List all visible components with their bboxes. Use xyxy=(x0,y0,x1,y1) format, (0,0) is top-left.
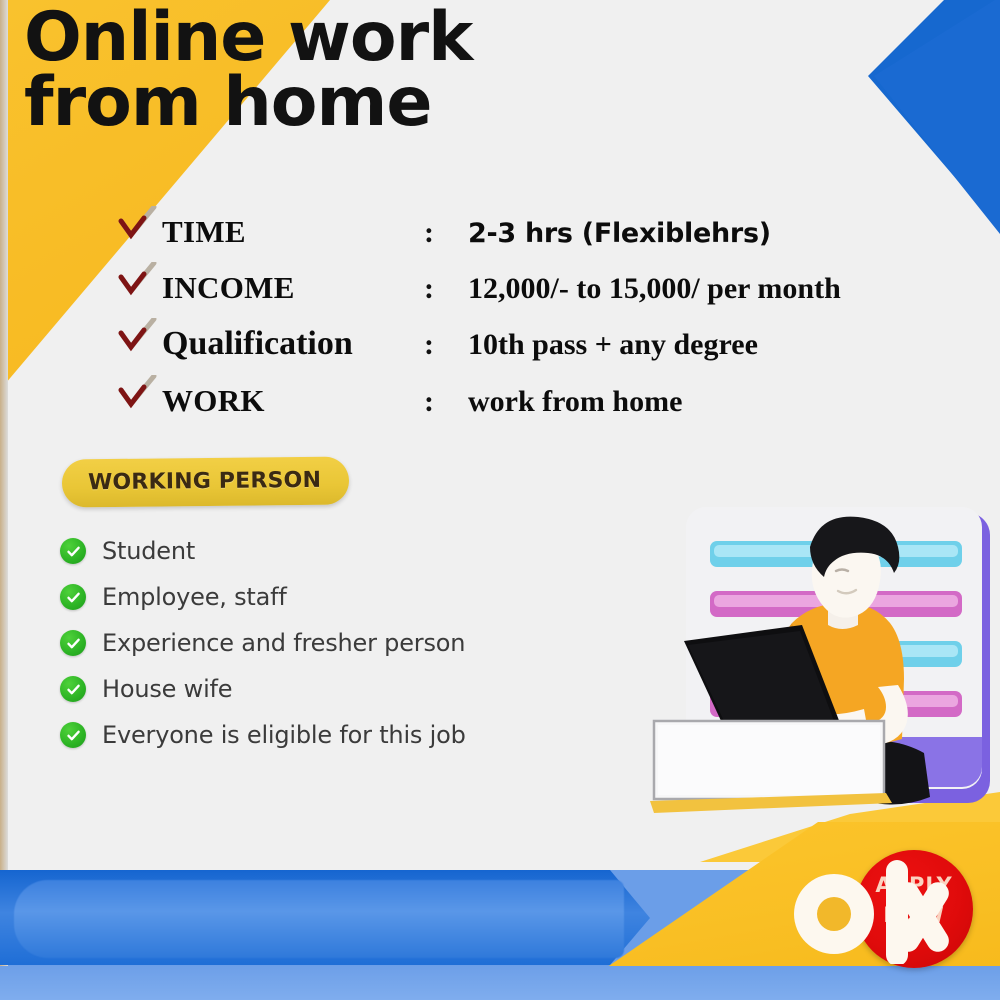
list-item: Experience and fresher person xyxy=(60,620,466,666)
bottom-blue-banner-inner xyxy=(14,880,624,958)
green-check-circle-icon xyxy=(60,584,86,610)
detail-value: 2-3 hrs (Flexiblehrs) xyxy=(468,218,771,249)
detail-value: work from home xyxy=(468,385,682,419)
detail-label: INCOME xyxy=(162,270,424,306)
detail-row: Qualification : 10th pass + any degree xyxy=(118,320,841,363)
list-item: Employee, staff xyxy=(60,574,466,620)
left-edge-strip xyxy=(0,0,8,1000)
list-item-label: Everyone is eligible for this job xyxy=(102,721,466,749)
detail-colon: : xyxy=(424,328,468,362)
list-item: Student xyxy=(60,528,466,574)
list-item-label: House wife xyxy=(102,675,232,703)
poster-advertisement: Online work from home TIME : 2-3 hrs (Fl… xyxy=(0,0,1000,1000)
detail-row: WORK : work from home xyxy=(118,377,841,419)
page-title: Online work from home xyxy=(24,6,472,135)
check-mark-icon xyxy=(118,208,162,242)
job-details-list: TIME : 2-3 hrs (Flexiblehrs) INCOME : 12… xyxy=(118,208,841,419)
check-mark-icon xyxy=(118,377,162,411)
detail-label: Qualification xyxy=(162,325,424,363)
detail-colon: : xyxy=(424,216,468,250)
detail-value: 12,000/- to 15,000/ per month xyxy=(468,272,841,306)
working-person-badge-label: WORKING PERSON xyxy=(88,468,321,495)
list-item: House wife xyxy=(60,666,466,712)
green-check-circle-icon xyxy=(60,630,86,656)
check-mark-icon xyxy=(118,264,162,298)
detail-row: INCOME : 12,000/- to 15,000/ per month xyxy=(118,264,841,306)
detail-label: WORK xyxy=(162,383,424,419)
detail-row: TIME : 2-3 hrs (Flexiblehrs) xyxy=(118,208,841,250)
green-check-circle-icon xyxy=(60,538,86,564)
olx-brand-mark xyxy=(788,854,988,964)
detail-value: 10th pass + any degree xyxy=(468,328,758,362)
check-mark-icon xyxy=(118,320,162,354)
list-item: Everyone is eligible for this job xyxy=(60,712,466,758)
list-item-label: Employee, staff xyxy=(102,583,287,611)
bottom-light-blue-strip xyxy=(0,966,1000,1000)
detail-colon: : xyxy=(424,272,468,306)
detail-colon: : xyxy=(424,385,468,419)
person-at-laptop-illustration xyxy=(640,505,1000,885)
working-person-badge: WORKING PERSON xyxy=(62,456,350,507)
list-item-label: Student xyxy=(102,537,195,565)
green-check-circle-icon xyxy=(60,722,86,748)
detail-label: TIME xyxy=(162,214,424,250)
olx-watermark-logo: APPLY NOW xyxy=(855,850,980,975)
eligibility-checklist: Student Employee, staff Experience and f… xyxy=(60,528,466,758)
green-check-circle-icon xyxy=(60,676,86,702)
list-item-label: Experience and fresher person xyxy=(102,629,465,657)
